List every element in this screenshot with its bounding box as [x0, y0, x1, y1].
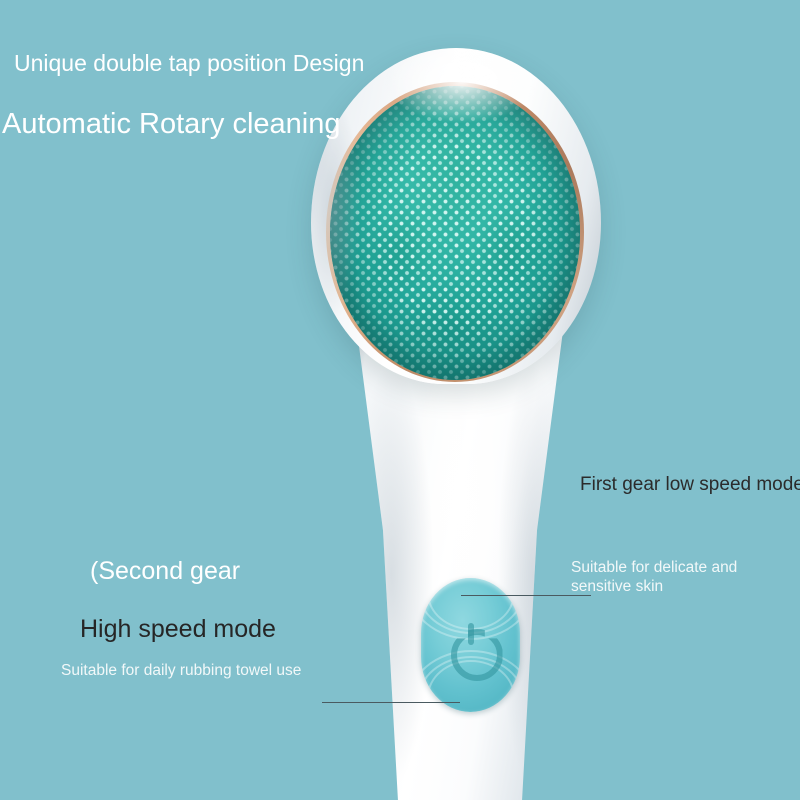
- annotation-first-gear-note: Suitable for delicate and sensitive skin: [571, 558, 737, 596]
- annotation-second-gear-note: Suitable for daily rubbing towel use: [61, 662, 301, 680]
- power-button[interactable]: [421, 578, 520, 712]
- annotation-second-gear-label: (Second gear: [90, 557, 240, 586]
- annotation-second-gear-mode: High speed mode: [80, 615, 276, 644]
- headline-secondary: Automatic Rotary cleaning: [2, 108, 341, 141]
- power-icon: [447, 621, 495, 669]
- power-icon-ring: [451, 629, 503, 681]
- leader-line-second-gear: [322, 702, 460, 703]
- annotation-first-gear-label: First gear low speed mode: [580, 474, 800, 496]
- power-icon-bar: [468, 623, 474, 645]
- headline-primary: Unique double tap position Design: [14, 50, 364, 77]
- product-marketing-image: Unique double tap position Design Automa…: [0, 0, 800, 800]
- device-head-gloss: [311, 48, 601, 384]
